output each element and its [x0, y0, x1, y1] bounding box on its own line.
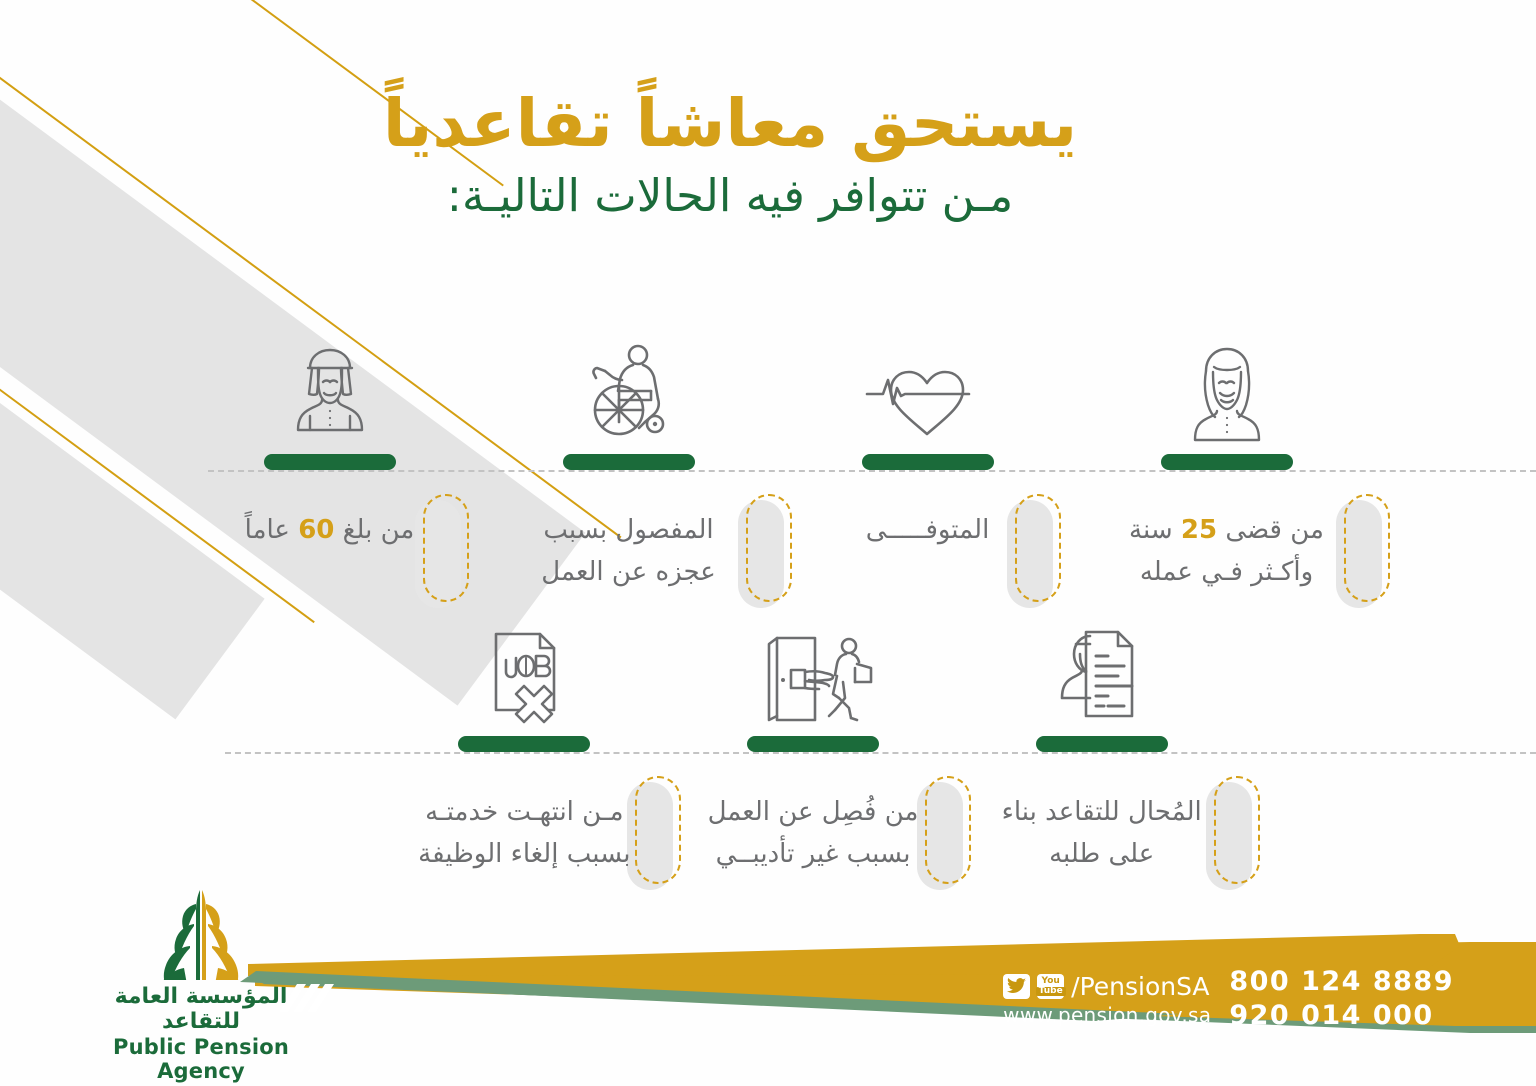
chip-dashed-outline	[1214, 776, 1260, 884]
eligibility-item-non-disciplinary-dismissal: من فُصِل عن العملبسبب غير تأديبــي	[669, 612, 958, 892]
social-icons-row: You Tube /PensionSA	[1003, 971, 1211, 1002]
twitter-bird-icon[interactable]	[1003, 974, 1030, 999]
bearded-man-icon	[1173, 330, 1281, 446]
timeline-marker-pill	[563, 454, 695, 470]
timeline-marker-pill	[1161, 454, 1293, 470]
chip-dashed-outline	[746, 494, 792, 602]
eligibility-caption-job-abolished: مـن انتهـت خدمتـهبسبب إلغاء الوظيفة	[418, 782, 630, 892]
chip-dashed-outline	[635, 776, 681, 884]
eligibility-item-disability: المفصول بسببعجزه عن العمل	[479, 330, 778, 610]
eligibility-caption-25-years: من قضى 25 سنةوأكـثر فـي عمله	[1129, 500, 1324, 610]
chip-dashed-outline	[423, 494, 469, 602]
job-cancelled-icon	[472, 612, 576, 728]
footer-ribbon: You Tube /PensionSA www.pension.gov.sa 8…	[0, 926, 1536, 1086]
timeline-marker-pill	[1036, 736, 1168, 752]
eligibility-caption-disability: المفصول بسببعجزه عن العمل	[541, 500, 716, 610]
phone-number-secondary: 920 014 000	[1229, 999, 1454, 1034]
timeline-marker-pill	[264, 454, 396, 470]
eligibility-item-own-request: المُحال للتقاعد بناءعلى طلبه	[957, 612, 1246, 892]
eligibility-caption-own-request: المُحال للتقاعد بناءعلى طلبه	[1002, 782, 1202, 892]
eligibility-caption-age-60: من بلغ 60 عاماً	[245, 500, 415, 610]
chip-dashed-outline	[1344, 494, 1390, 602]
caption-area: المتوفـــــى	[778, 500, 1077, 610]
timeline-marker-pill	[747, 736, 879, 752]
eligibility-item-job-abolished: مـن انتهـت خدمتـهبسبب إلغاء الوظيفة	[380, 612, 669, 892]
caption-area: المُحال للتقاعد بناءعلى طلبه	[957, 782, 1246, 892]
infographic-poster: يستحق معاشاً تقاعدياً مـن تتوافر فيه الح…	[0, 0, 1536, 1086]
footer-social-block: You Tube /PensionSA www.pension.gov.sa	[1003, 971, 1211, 1028]
dismissed-worker-door-icon	[751, 612, 875, 728]
eligibility-caption-non-disciplinary-dismissal: من فُصِل عن العملبسبب غير تأديبــي	[708, 782, 919, 892]
chip-dashed-outline	[925, 776, 971, 884]
caption-area: المفصول بسببعجزه عن العمل	[479, 500, 778, 610]
caption-area: من فُصِل عن العملبسبب غير تأديبــي	[669, 782, 958, 892]
timeline-marker-pill	[862, 454, 994, 470]
eligibility-caption-deceased: المتوفـــــى	[866, 500, 990, 610]
caption-area: مـن انتهـت خدمتـهبسبب إلغاء الوظيفة	[380, 782, 669, 892]
headline-secondary: مـن تتوافر فيه الحالات التاليـة:	[0, 162, 1460, 230]
caption-area: من بلغ 60 عاماً	[180, 500, 479, 610]
eligibility-item-age-60: من بلغ 60 عاماً	[180, 330, 479, 610]
heartbeat-icon	[865, 330, 991, 446]
footer-contact-block: You Tube /PensionSA www.pension.gov.sa 8…	[1003, 965, 1454, 1034]
social-handle[interactable]: /PensionSA	[1071, 971, 1209, 1002]
eligibility-item-deceased: المتوفـــــى	[778, 330, 1077, 610]
timeline-marker-pill	[458, 736, 590, 752]
chip-dashed-outline	[1015, 494, 1061, 602]
wheelchair-person-icon	[573, 330, 685, 446]
headline-primary: يستحق معاشاً تقاعدياً	[0, 86, 1460, 162]
youtube-icon[interactable]: You Tube	[1037, 974, 1064, 999]
retirement-request-document-icon	[1046, 612, 1158, 728]
headline-block: يستحق معاشاً تقاعدياً مـن تتوافر فيه الح…	[0, 86, 1460, 229]
website-url[interactable]: www.pension.gov.sa	[1003, 1003, 1211, 1028]
eligibility-item-25-years: من قضى 25 سنةوأكـثر فـي عمله	[1077, 330, 1376, 610]
man-with-ghutra-icon	[276, 330, 384, 446]
caption-area: من قضى 25 سنةوأكـثر فـي عمله	[1077, 500, 1376, 610]
phone-numbers: 800 124 8889 920 014 000	[1229, 965, 1454, 1034]
phone-number-primary: 800 124 8889	[1229, 965, 1454, 1000]
